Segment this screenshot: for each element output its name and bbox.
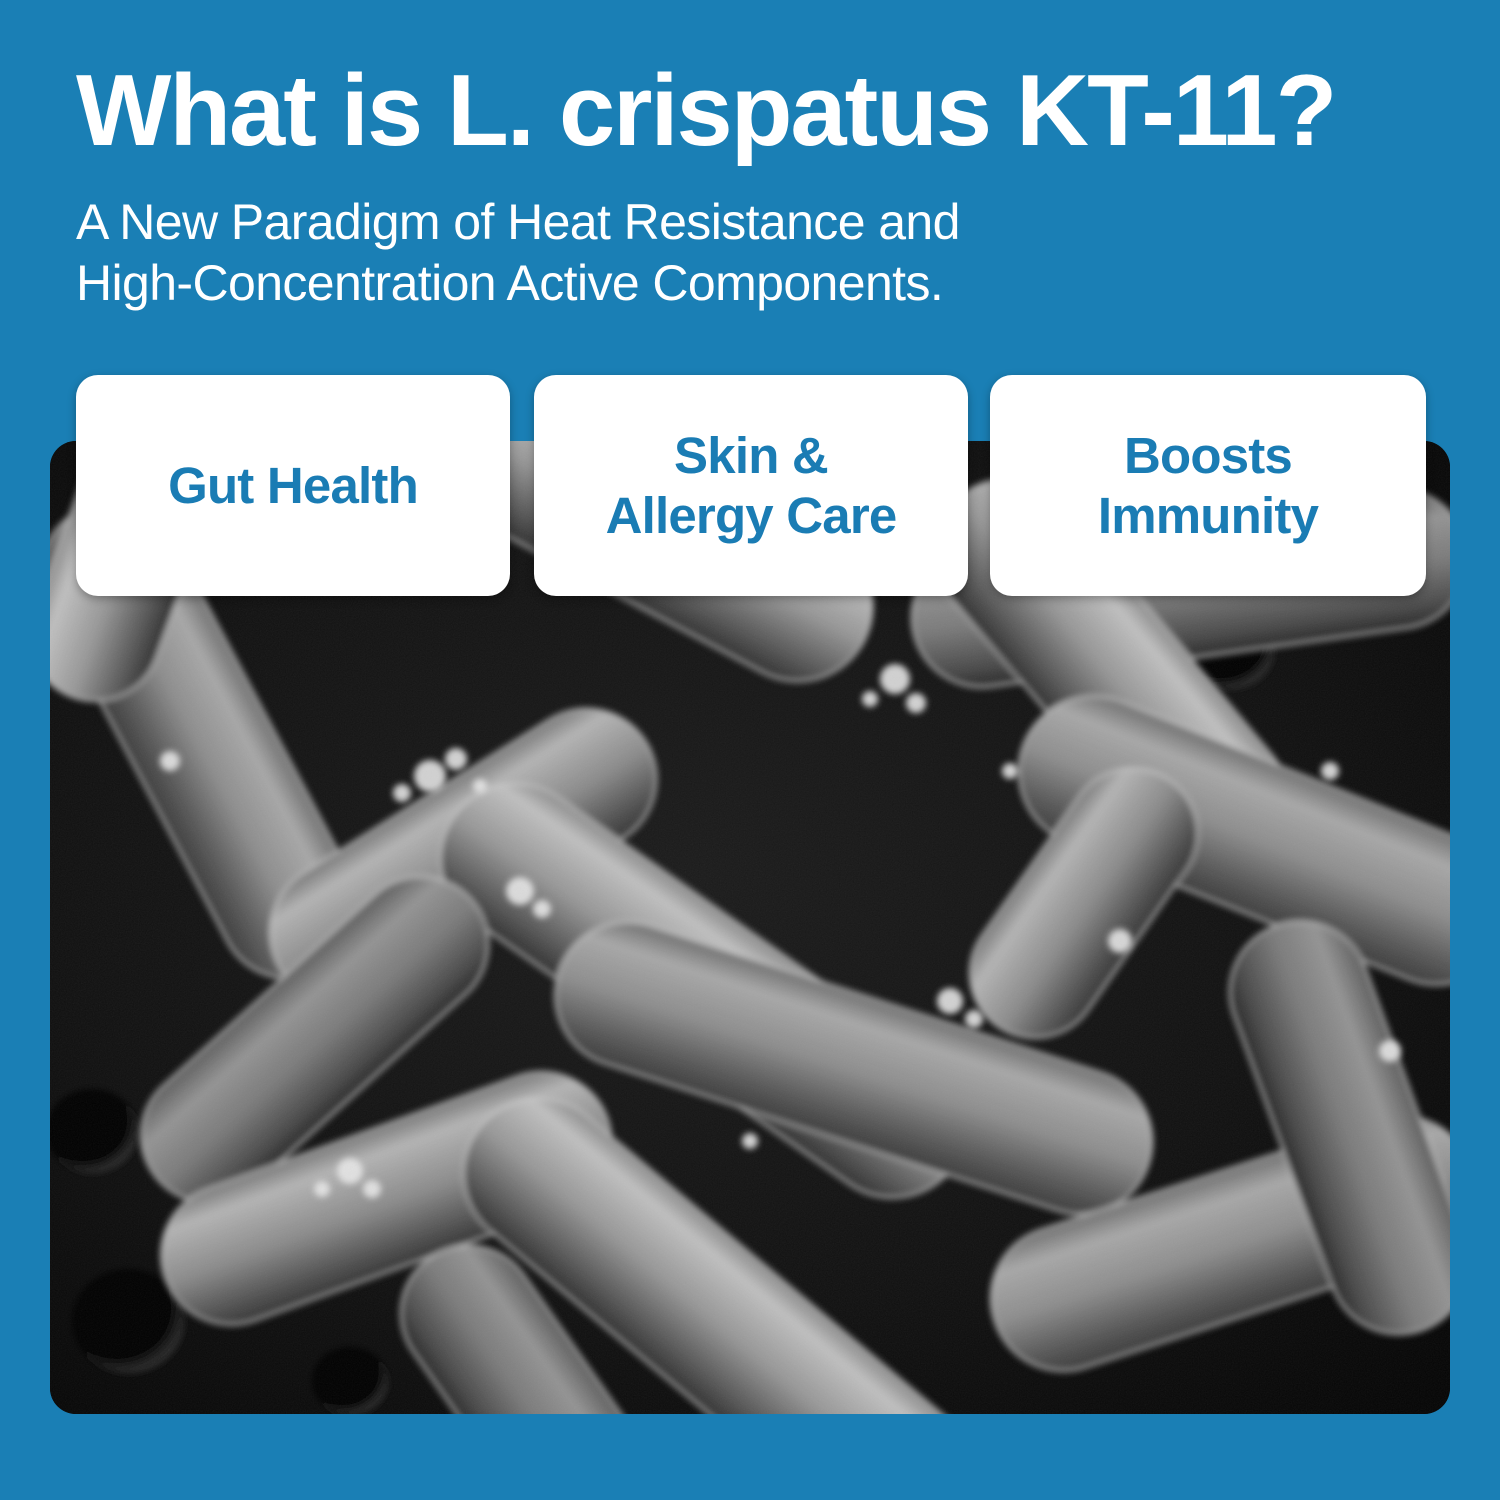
feature-card-boosts-immunity[interactable]: Boosts Immunity	[990, 375, 1426, 596]
feature-card-boosts-immunity-line-1: Boosts	[1098, 426, 1318, 486]
page-subtitle: A New Paradigm of Heat Resistance and Hi…	[76, 192, 1276, 314]
page-subtitle-line-2: High-Concentration Active Components.	[76, 253, 1276, 314]
feature-card-skin-allergy-care-label: Skin & Allergy Care	[594, 426, 909, 546]
page-title: What is L. crispatus KT-11?	[76, 58, 1436, 165]
feature-card-boosts-immunity-label: Boosts Immunity	[1086, 426, 1330, 546]
feature-card-skin-allergy-care[interactable]: Skin & Allergy Care	[534, 375, 968, 596]
promo-graphic: What is L. crispatus KT-11? A New Paradi…	[0, 0, 1500, 1500]
feature-card-gut-health-line-1: Gut Health	[168, 456, 418, 516]
feature-card-gut-health-label: Gut Health	[156, 456, 430, 516]
feature-card-skin-allergy-care-line-2: Allergy Care	[606, 486, 897, 546]
feature-card-gut-health[interactable]: Gut Health	[76, 375, 510, 596]
feature-card-skin-allergy-care-line-1: Skin &	[606, 426, 897, 486]
page-subtitle-line-1: A New Paradigm of Heat Resistance and	[76, 192, 1276, 253]
feature-card-group: Gut Health Skin & Allergy Care Boosts Im…	[76, 375, 1426, 596]
feature-card-boosts-immunity-line-2: Immunity	[1098, 486, 1318, 546]
